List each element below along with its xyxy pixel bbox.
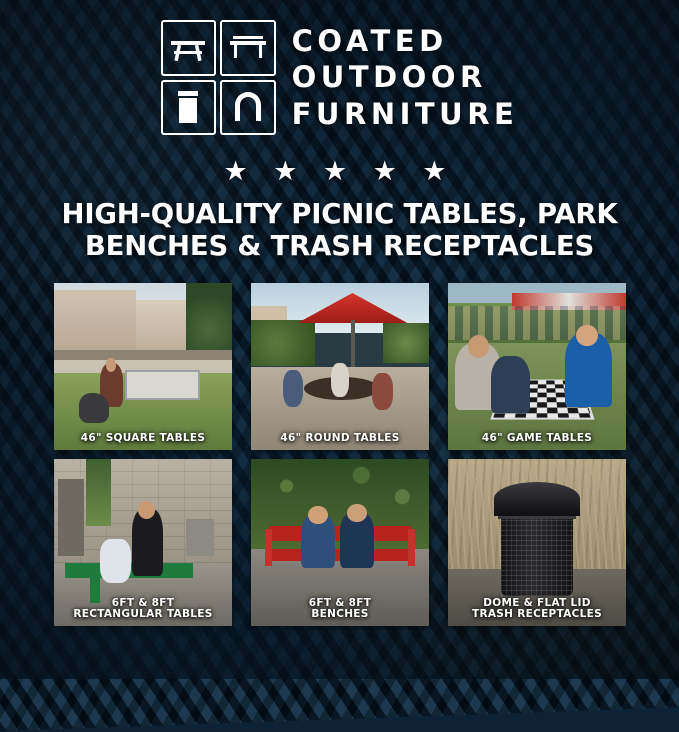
brand-line-3: FURNITURE [292,97,519,132]
photo-game-tables [448,283,626,450]
brand-line-2: OUTDOOR [292,60,519,95]
tile-caption: 6FT & 8FT BENCHES [251,595,429,627]
logo-icon-grid [161,20,276,135]
headline-line-2: BENCHES & TRASH RECEPTACLES [34,230,645,262]
product-tile-trash-receptacles[interactable]: DOME & FLAT LID TRASH RECEPTACLES [448,459,626,626]
product-tile-square-tables[interactable]: 46" SQUARE TABLES [54,283,232,450]
tile-caption: 46" GAME TABLES [448,430,626,450]
product-tile-benches[interactable]: 6FT & 8FT BENCHES [251,459,429,626]
tile-caption: 46" ROUND TABLES [251,430,429,450]
photo-round-tables [251,283,429,450]
product-tile-rectangular-tables[interactable]: 6FT & 8FT RECTANGULAR TABLES [54,459,232,626]
photo-square-tables [54,283,232,450]
tile-caption: DOME & FLAT LID TRASH RECEPTACLES [448,595,626,627]
brand-logo: COATED OUTDOOR FURNITURE [0,20,679,135]
headline-line-1: HIGH-QUALITY PICNIC TABLES, PARK [34,198,645,230]
tile-caption: 46" SQUARE TABLES [54,430,232,450]
trash-receptacle-icon [161,80,217,136]
tile-caption: 6FT & 8FT RECTANGULAR TABLES [54,595,232,627]
brand-wordmark: COATED OUTDOOR FURNITURE [292,20,519,132]
product-tile-game-tables[interactable]: 46" GAME TABLES [448,283,626,450]
poster-content: COATED OUTDOOR FURNITURE ★ ★ ★ ★ ★ HIGH-… [0,0,679,679]
picnic-table-icon [161,20,217,76]
product-photo-grid: 46" SQUARE TABLES 46" ROUND TABLES [54,283,626,626]
five-star-rating: ★ ★ ★ ★ ★ [0,158,679,185]
headline: HIGH-QUALITY PICNIC TABLES, PARK BENCHES… [0,198,679,263]
park-bench-icon [220,20,276,76]
product-tile-round-tables[interactable]: 46" ROUND TABLES [251,283,429,450]
dome-lid-receptacle-icon [220,80,276,136]
brand-line-1: COATED [292,24,519,59]
